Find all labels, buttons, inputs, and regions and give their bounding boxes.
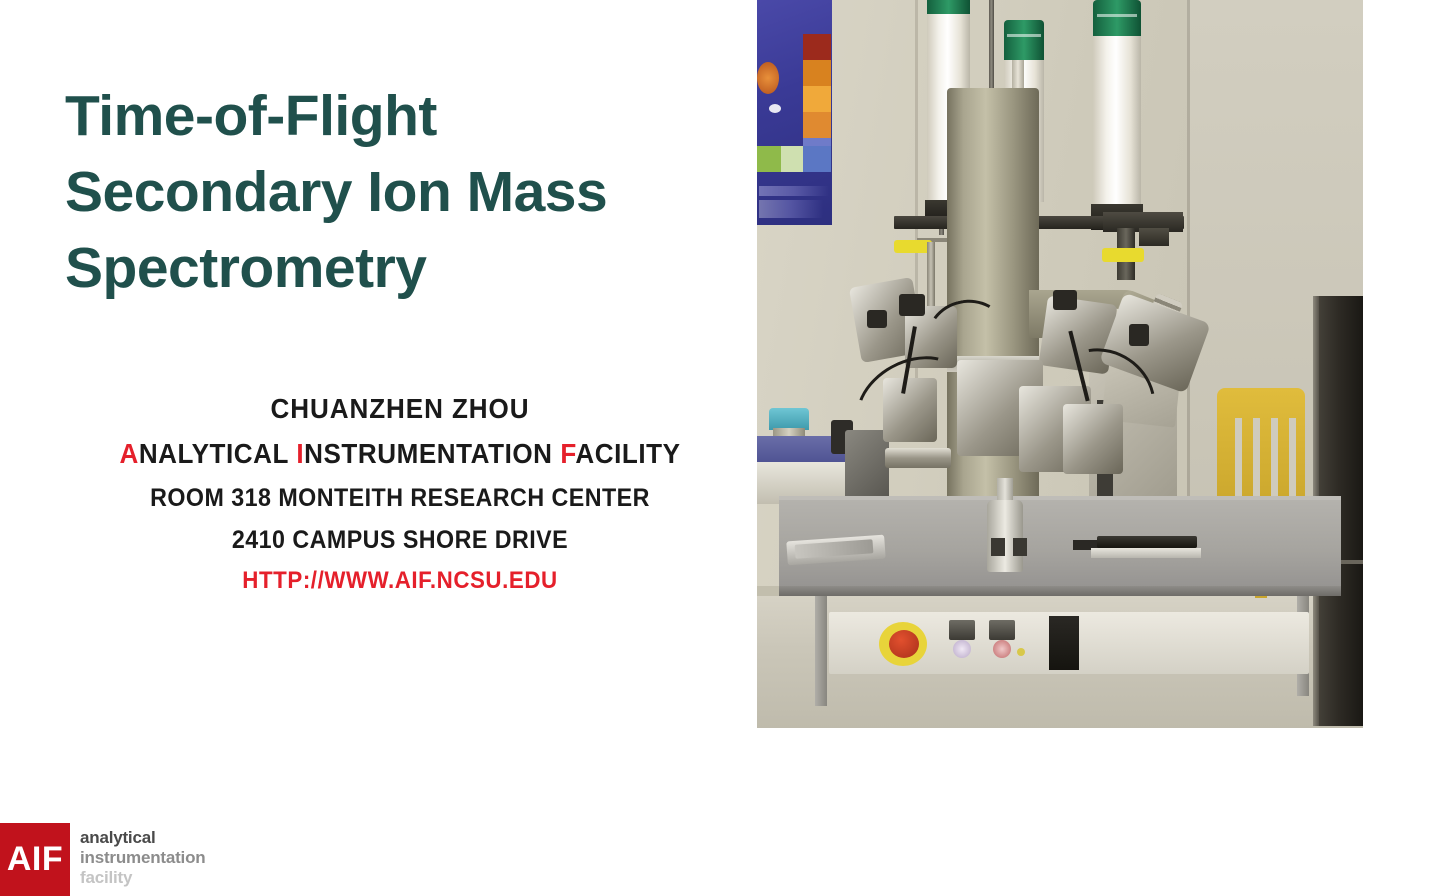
panel-led bbox=[1017, 648, 1025, 656]
bottle-label-right bbox=[1013, 538, 1027, 556]
poster-graphic bbox=[757, 62, 779, 94]
poster-tile-red bbox=[803, 34, 831, 60]
poster-tile-indigo bbox=[803, 146, 831, 172]
facility-initial-a: A bbox=[119, 438, 138, 469]
poster-tile-pale bbox=[781, 146, 803, 172]
chair-slat-4 bbox=[1289, 418, 1296, 504]
spray-bottle bbox=[987, 500, 1023, 572]
cap-stripe-middle bbox=[1007, 34, 1041, 37]
facility-address: 2410 CAMPUS SHORE DRIVE bbox=[28, 519, 772, 561]
aif-logo: AIF analytical instrumentation facility bbox=[0, 823, 300, 896]
presenter-name: CHUANZHEN ZHOU bbox=[28, 387, 772, 431]
facility-url[interactable]: HTTP://WWW.AIF.NCSU.EDU bbox=[28, 561, 772, 601]
chair-slat-1 bbox=[1235, 418, 1242, 504]
page-title: Time-of-Flight Secondary Ion Mass Spectr… bbox=[65, 78, 725, 306]
logo-line-instrumentation: instrumentation bbox=[80, 848, 280, 868]
panel-indicator-1[interactable] bbox=[953, 640, 971, 658]
cap-stripe-right bbox=[1097, 14, 1137, 17]
aif-logo-wordmark: analytical instrumentation facility bbox=[80, 828, 280, 888]
title-line-3: Spectrometry bbox=[65, 230, 725, 306]
blue-sensor-cap bbox=[769, 408, 809, 430]
facility-word-f: ACILITY bbox=[575, 438, 680, 469]
instrument-table-edge bbox=[779, 586, 1341, 596]
title-line-1: Time-of-Flight bbox=[65, 78, 725, 154]
poster-title-text bbox=[759, 200, 823, 218]
poster-tile-green bbox=[757, 146, 781, 172]
dark-fitting-1 bbox=[899, 294, 925, 316]
chair-slat-3 bbox=[1271, 418, 1278, 504]
poster-tile-yellow bbox=[803, 86, 831, 112]
dark-fitting-4 bbox=[1129, 324, 1149, 346]
facility-initial-f: F bbox=[560, 438, 575, 469]
logo-line-analytical: analytical bbox=[80, 828, 280, 848]
dark-fitting-3 bbox=[1053, 290, 1077, 310]
table-white-bar bbox=[1091, 548, 1201, 558]
aif-logo-mark: AIF bbox=[0, 823, 70, 896]
poster-tile-orange bbox=[803, 60, 831, 86]
bottle-label-left bbox=[991, 538, 1005, 556]
poster-dot bbox=[769, 104, 781, 113]
facility-initial-i: I bbox=[296, 438, 304, 469]
cylinder-cap-middle bbox=[1004, 20, 1044, 60]
panel-indicator-2[interactable] bbox=[993, 640, 1011, 658]
logo-line-facility: facility bbox=[80, 868, 280, 888]
panel-main-switch[interactable] bbox=[1049, 616, 1079, 670]
panel-button-housing-2 bbox=[989, 620, 1015, 640]
author-affiliation-block: CHUANZHEN ZHOU ANALYTICAL INSTRUMENTATIO… bbox=[0, 387, 800, 601]
panel-button-housing-1 bbox=[949, 620, 975, 640]
presentation-slide: Time-of-Flight Secondary Ion Mass Spectr… bbox=[0, 0, 1435, 896]
facility-word-a: NALYTICAL bbox=[139, 438, 297, 469]
emergency-stop-button[interactable] bbox=[889, 630, 919, 658]
table-dark-bar bbox=[1097, 536, 1197, 548]
poster-tile-amber bbox=[803, 112, 831, 138]
poster-image-tiles bbox=[803, 34, 831, 164]
poster-caption bbox=[759, 186, 829, 196]
yellow-valve-handle-3 bbox=[1102, 248, 1144, 262]
dark-fitting-2 bbox=[867, 310, 887, 328]
instrument-photograph bbox=[757, 0, 1363, 728]
chair-slat-2 bbox=[1253, 418, 1260, 504]
table-leg-left bbox=[815, 596, 827, 706]
facility-word-i: NSTRUMENTATION bbox=[304, 438, 560, 469]
facility-room: ROOM 318 MONTEITH RESEARCH CENTER bbox=[28, 477, 772, 519]
cylinder-cap-right bbox=[1093, 0, 1141, 36]
facility-name: ANALYTICAL INSTRUMENTATION FACILITY bbox=[28, 431, 772, 477]
manifold-fitting bbox=[1139, 228, 1169, 246]
title-line-2: Secondary Ion Mass bbox=[65, 154, 725, 230]
cylinder-cap-left bbox=[927, 0, 970, 14]
